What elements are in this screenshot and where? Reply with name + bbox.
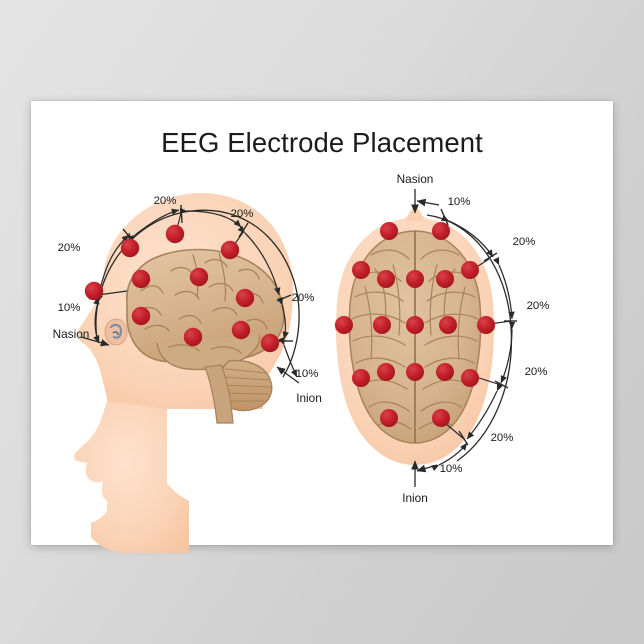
- label-lat-top-right: 20%: [231, 208, 254, 220]
- top-head-figure: Nasion 10% 20% 20% 20% 20% 10% Inion: [331, 169, 611, 509]
- label-top-nasion: Nasion: [397, 172, 434, 186]
- label-top-pct-1: 10%: [448, 196, 471, 208]
- brain-top: [349, 231, 480, 443]
- electrode: [132, 307, 150, 325]
- electrode: [184, 328, 202, 346]
- poster-artwork: EEG Electrode Placement: [31, 101, 613, 545]
- lateral-head-figure: 20% 20% 20% 10% Nasion 20% 10% Inion: [41, 171, 341, 501]
- electrode: [380, 222, 398, 240]
- label-lat-left-lower: 10%: [58, 302, 81, 314]
- label-lat-nasion: Nasion: [53, 327, 90, 341]
- electrode: [232, 321, 250, 339]
- label-lat-left-upper: 20%: [58, 242, 81, 254]
- electrode: [335, 316, 353, 334]
- electrode: [236, 289, 254, 307]
- screenshot-canvas: EEG Electrode Placement: [0, 0, 644, 644]
- electrode: [432, 222, 450, 240]
- electrode: [461, 369, 479, 387]
- electrode: [432, 409, 450, 427]
- electrode: [436, 270, 454, 288]
- label-lat-right-lower: 10%: [296, 368, 319, 380]
- electrode: [132, 270, 150, 288]
- electrode: [461, 261, 479, 279]
- label-lat-inion: Inion: [296, 391, 322, 405]
- electrode: [406, 316, 424, 334]
- electrode: [436, 363, 454, 381]
- electrode: [85, 282, 103, 300]
- electrode: [377, 363, 395, 381]
- face-profile: [74, 401, 189, 553]
- label-top-inion: Inion: [402, 491, 428, 505]
- page-title: EEG Electrode Placement: [31, 127, 613, 159]
- electrode: [352, 369, 370, 387]
- electrode: [190, 268, 208, 286]
- electrode: [380, 409, 398, 427]
- electrode: [121, 239, 139, 257]
- electrode: [221, 241, 239, 259]
- label-top-pct-4: 20%: [525, 366, 548, 378]
- electrode: [377, 270, 395, 288]
- electrode: [477, 316, 495, 334]
- electrode: [261, 334, 279, 352]
- electrode: [439, 316, 457, 334]
- label-lat-right-upper: 20%: [292, 292, 315, 304]
- label-top-pct-2: 20%: [513, 236, 536, 248]
- label-top-pct-5: 20%: [491, 432, 514, 444]
- label-top-pct-3: 20%: [527, 300, 550, 312]
- electrode: [406, 270, 424, 288]
- nasion-arrow-top: [415, 189, 439, 213]
- electrode: [352, 261, 370, 279]
- electrode: [373, 316, 391, 334]
- electrode: [406, 363, 424, 381]
- electrode: [166, 225, 184, 243]
- ear-icon: [105, 319, 127, 345]
- label-lat-top-left: 20%: [154, 195, 177, 207]
- label-top-pct-6: 10%: [440, 463, 463, 475]
